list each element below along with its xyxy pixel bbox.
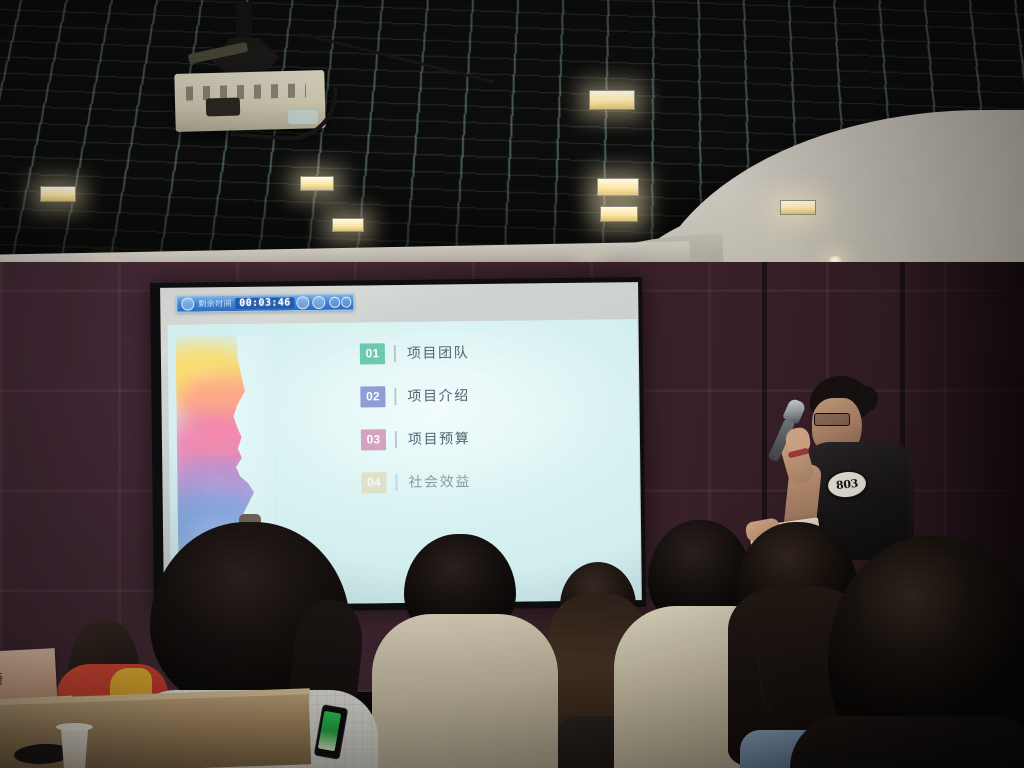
slide-agenda-list: 01 项目团队 02 项目介绍 03 项目预算 04 社会效益 [360,339,612,514]
agenda-number-badge-1: 01 [360,343,385,364]
agenda-label-2: 项目介绍 [407,385,470,406]
pause-icon[interactable] [312,296,325,309]
agenda-separator-3 [395,431,397,448]
agenda-item-4: 04 社会效益 [361,468,611,493]
agenda-number-badge-4: 04 [361,472,386,493]
agenda-label-1: 项目团队 [407,342,470,363]
nameplate-text: 琦 [0,668,9,690]
glasses-icon[interactable] [330,297,352,307]
ceiling-light-6 [600,206,638,222]
speaker-glasses [814,413,850,426]
timer-value: 00:03:46 [235,297,295,309]
agenda-item-2: 02 项目介绍 [360,382,610,407]
countdown-timer-toolbar[interactable]: 剩余时间 00:03:46 [176,294,355,313]
ceiling-light-3 [332,218,364,232]
speaker-badge-number: 803 [835,477,858,492]
paper-cup-rim [56,723,93,731]
clock-icon[interactable] [181,298,194,311]
agenda-separator-2 [394,388,396,405]
audience-person-7-shoulder [790,716,1024,768]
agenda-label-4: 社会效益 [408,471,471,492]
conference-room-scene: 01 项目团队 02 项目介绍 03 项目预算 04 社会效益 [0,0,1024,768]
agenda-item-3: 03 项目预算 [361,425,611,450]
timer-label: 剩余时间 [195,298,235,309]
ceiling-light-2 [300,176,334,191]
ceiling-light-1 [40,186,76,202]
ceiling-light-5 [597,178,639,196]
agenda-separator-4 [395,474,397,491]
agenda-label-3: 项目预算 [408,428,471,449]
agenda-separator-1 [394,345,396,362]
play-icon[interactable] [296,296,309,309]
audience-person-3-shirt [372,614,558,768]
agenda-number-badge-2: 02 [360,386,385,407]
ceiling-light-4 [589,90,635,110]
desk-nameplate: 琦 [0,648,57,704]
ceiling-light-7 [780,200,816,215]
agenda-item-1: 01 项目团队 [360,339,610,364]
agenda-number-badge-3: 03 [361,429,386,450]
